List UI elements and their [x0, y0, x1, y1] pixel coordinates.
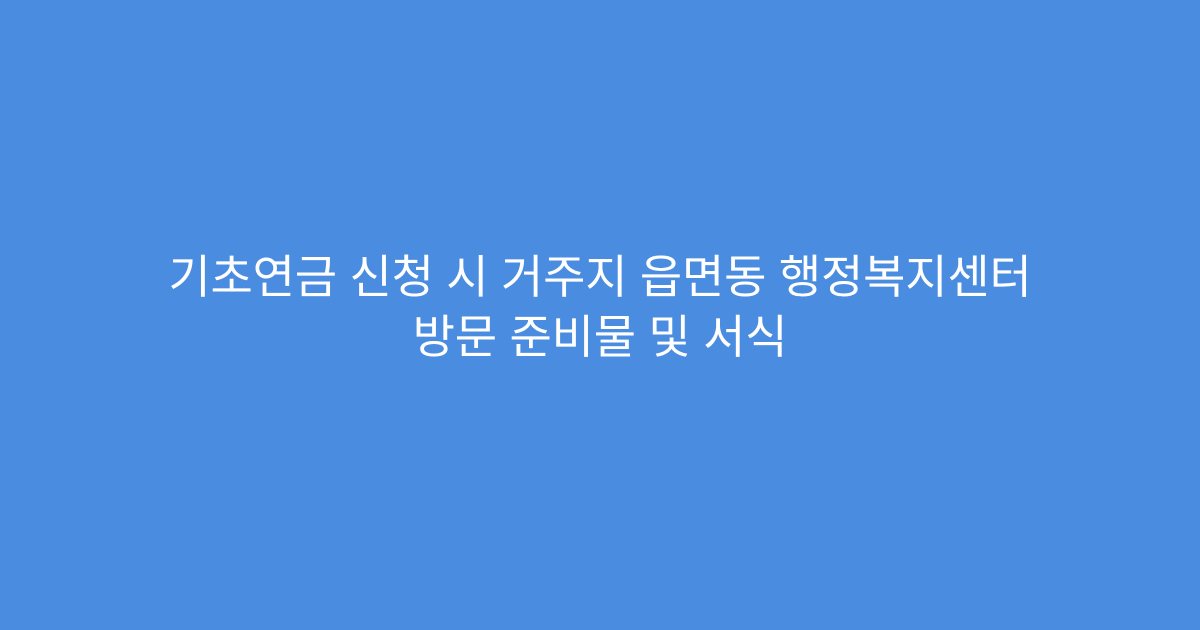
headline-line-2: 방문 준비물 및 서식 — [80, 307, 1120, 367]
headline-line-1: 기초연금 신청 시 거주지 읍면동 행정복지센터 — [80, 247, 1120, 307]
thumbnail-canvas: 기초연금 신청 시 거주지 읍면동 행정복지센터 방문 준비물 및 서식 — [0, 0, 1200, 630]
headline-block: 기초연금 신청 시 거주지 읍면동 행정복지센터 방문 준비물 및 서식 — [80, 247, 1120, 367]
